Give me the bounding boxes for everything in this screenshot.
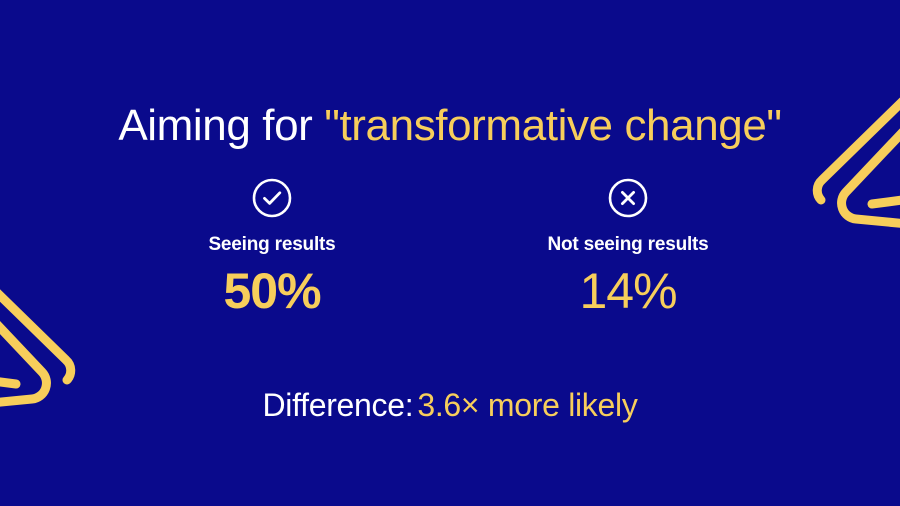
check-circle-icon xyxy=(250,176,294,220)
difference-label: Difference: xyxy=(262,387,413,423)
stat-value: 50% xyxy=(223,262,320,320)
title-highlight: "transformative change" xyxy=(324,101,781,150)
stat-value: 14% xyxy=(579,262,676,320)
stat-seeing-results: Seeing results 50% xyxy=(167,176,377,320)
slide-title: Aiming for "transformative change" xyxy=(0,97,900,155)
slide-canvas: Aiming for "transformative change" Seein… xyxy=(0,0,900,506)
difference-value: 3.6× more likely xyxy=(413,387,637,423)
stats-row: Seeing results 50% Not seeing results 14… xyxy=(0,176,900,320)
stat-label: Not seeing results xyxy=(547,234,708,256)
title-lead: Aiming for xyxy=(118,101,324,150)
x-circle-icon xyxy=(606,176,650,220)
difference-line: Difference:3.6× more likely xyxy=(0,383,900,427)
stat-not-seeing-results: Not seeing results 14% xyxy=(523,176,733,320)
stat-label: Seeing results xyxy=(208,234,335,256)
